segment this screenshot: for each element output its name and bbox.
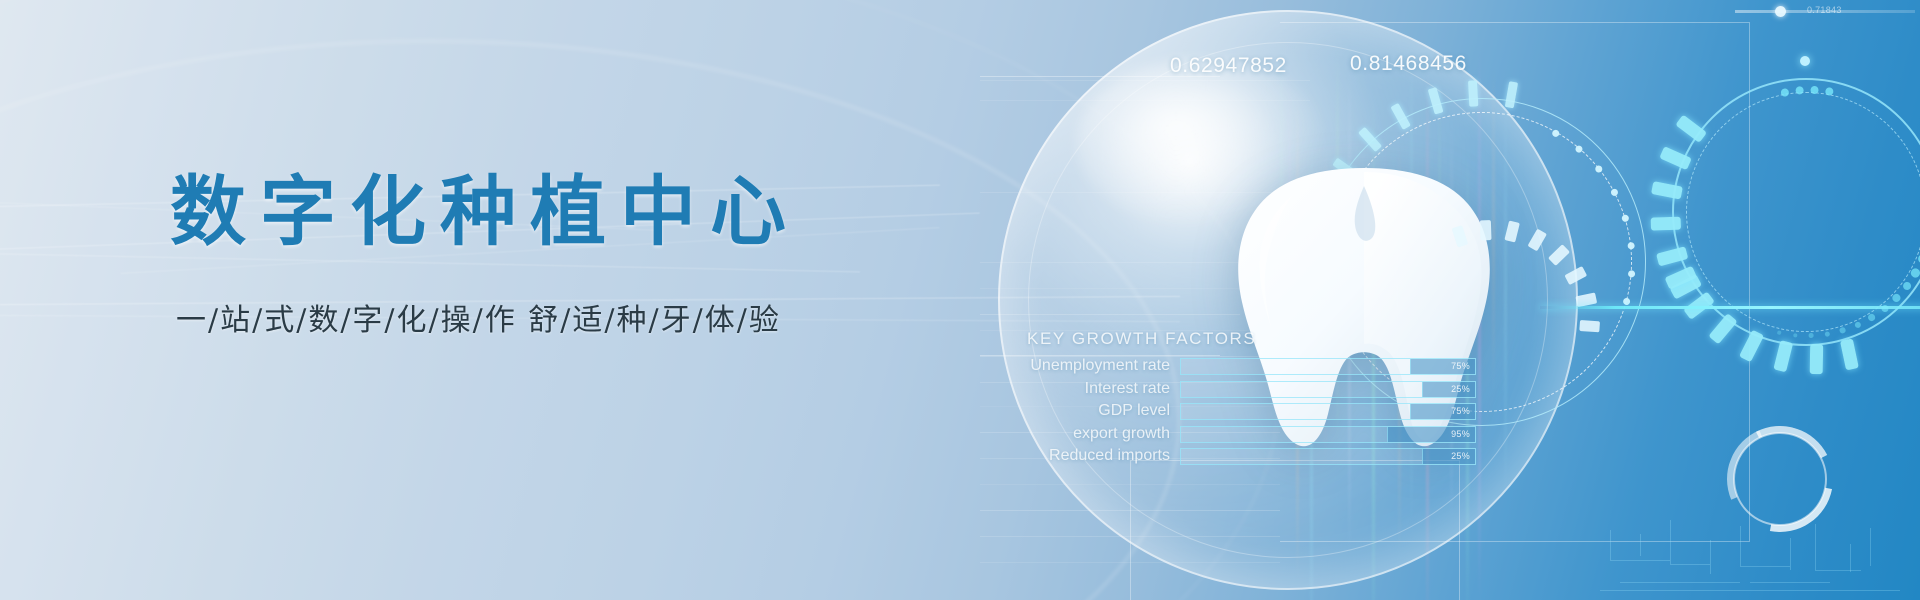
chart-rows: Unemployment rate75%Interest rate25%GDP … [980,358,1500,471]
hud-slider-knob[interactable] [1775,6,1786,17]
hud-slider[interactable]: 0.71843 [1735,6,1915,16]
chart-row-value: 25% [1451,384,1470,394]
dental-hero-banner: 数字化种植中心 一/站/式/数/字/化/操/作 舒/适/种/牙/体/验 [0,0,1920,600]
tech-visual-panel: 0.71843 0.62947852 0.81468456 KEY GROWTH… [980,0,1920,600]
chart-row-bar: 75% [1180,358,1476,375]
chart-row-bar: 25% [1180,381,1476,398]
chart-row: Interest rate25% [980,381,1500,400]
chart-row-label: GDP level [980,402,1170,420]
chart-row-value: 75% [1451,361,1470,371]
hud-ring-top-dot-icon [1800,56,1810,66]
key-growth-factors-chart: KEY GROWTH FACTORS Unemployment rate75%I… [980,320,1500,460]
chart-row-value: 75% [1451,406,1470,416]
hud-ring-beads-icon [1680,86,1920,338]
chart-row-fill: 75% [1410,404,1475,419]
chart-row-fill: 95% [1387,427,1475,442]
chart-row-value: 95% [1451,429,1470,439]
chart-row: Unemployment rate75% [980,358,1500,377]
headline-block: 数字化种植中心 一/站/式/数/字/化/操/作 舒/适/种/牙/体/验 [170,175,800,339]
chart-row: export growth95% [980,426,1500,445]
chart-row-bar: 75% [1180,403,1476,420]
readout-right: 0.81468456 [1350,52,1467,76]
chart-row-bar: 95% [1180,426,1476,443]
hud-slider-value: 0.71843 [1807,5,1842,15]
chart-row-fill: 75% [1410,359,1475,374]
cyan-divider-line [1540,306,1920,309]
chart-title: KEY GROWTH FACTORS [1027,329,1256,349]
chart-row: Reduced imports25% [980,448,1500,467]
chart-row-fill: 25% [1422,449,1475,464]
chart-row-bar: 25% [1180,448,1476,465]
page-subtitle: 一/站/式/数/字/化/操/作 舒/适/种/牙/体/验 [176,295,800,339]
chart-row: GDP level75% [980,403,1500,422]
chart-row-label: Interest rate [980,380,1170,398]
chart-row-fill: 25% [1422,382,1475,397]
circuit-decoration [1600,520,1900,600]
chart-row-label: export growth [980,425,1170,443]
readout-left: 0.62947852 [1170,54,1287,78]
chart-row-value: 25% [1451,451,1470,461]
page-title: 数字化种植中心 [170,175,800,251]
chart-row-label: Reduced imports [980,447,1170,465]
chart-row-label: Unemployment rate [980,357,1170,375]
